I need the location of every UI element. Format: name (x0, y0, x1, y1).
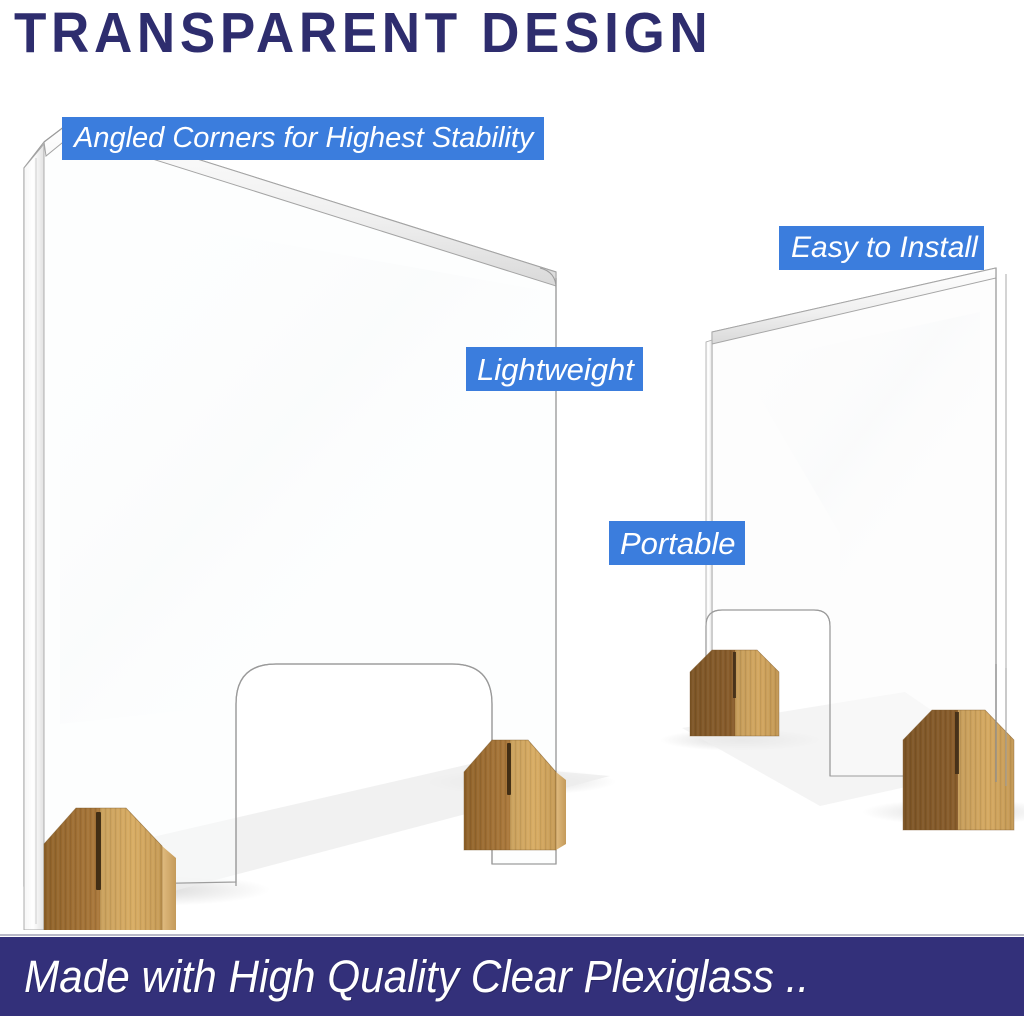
product-illustration (0, 64, 1024, 930)
callout-lightweight: Lightweight (466, 347, 643, 391)
callout-easy-to-install: Easy to Install (779, 226, 984, 270)
bottom-banner: Made with High Quality Clear Plexiglass … (0, 937, 1024, 1016)
callout-angled-corners: Angled Corners for Highest Stability (62, 117, 544, 160)
banner-text: Made with High Quality Clear Plexiglass … (24, 951, 809, 1003)
foot-right-rear (690, 650, 779, 736)
banner-divider (0, 934, 1024, 936)
product-feature-image: TRANSPARENT DESIGN (0, 0, 1024, 1016)
foot-far-right (903, 710, 1014, 830)
callout-portable: Portable (609, 521, 745, 565)
page-title: TRANSPARENT DESIGN (14, 2, 712, 64)
